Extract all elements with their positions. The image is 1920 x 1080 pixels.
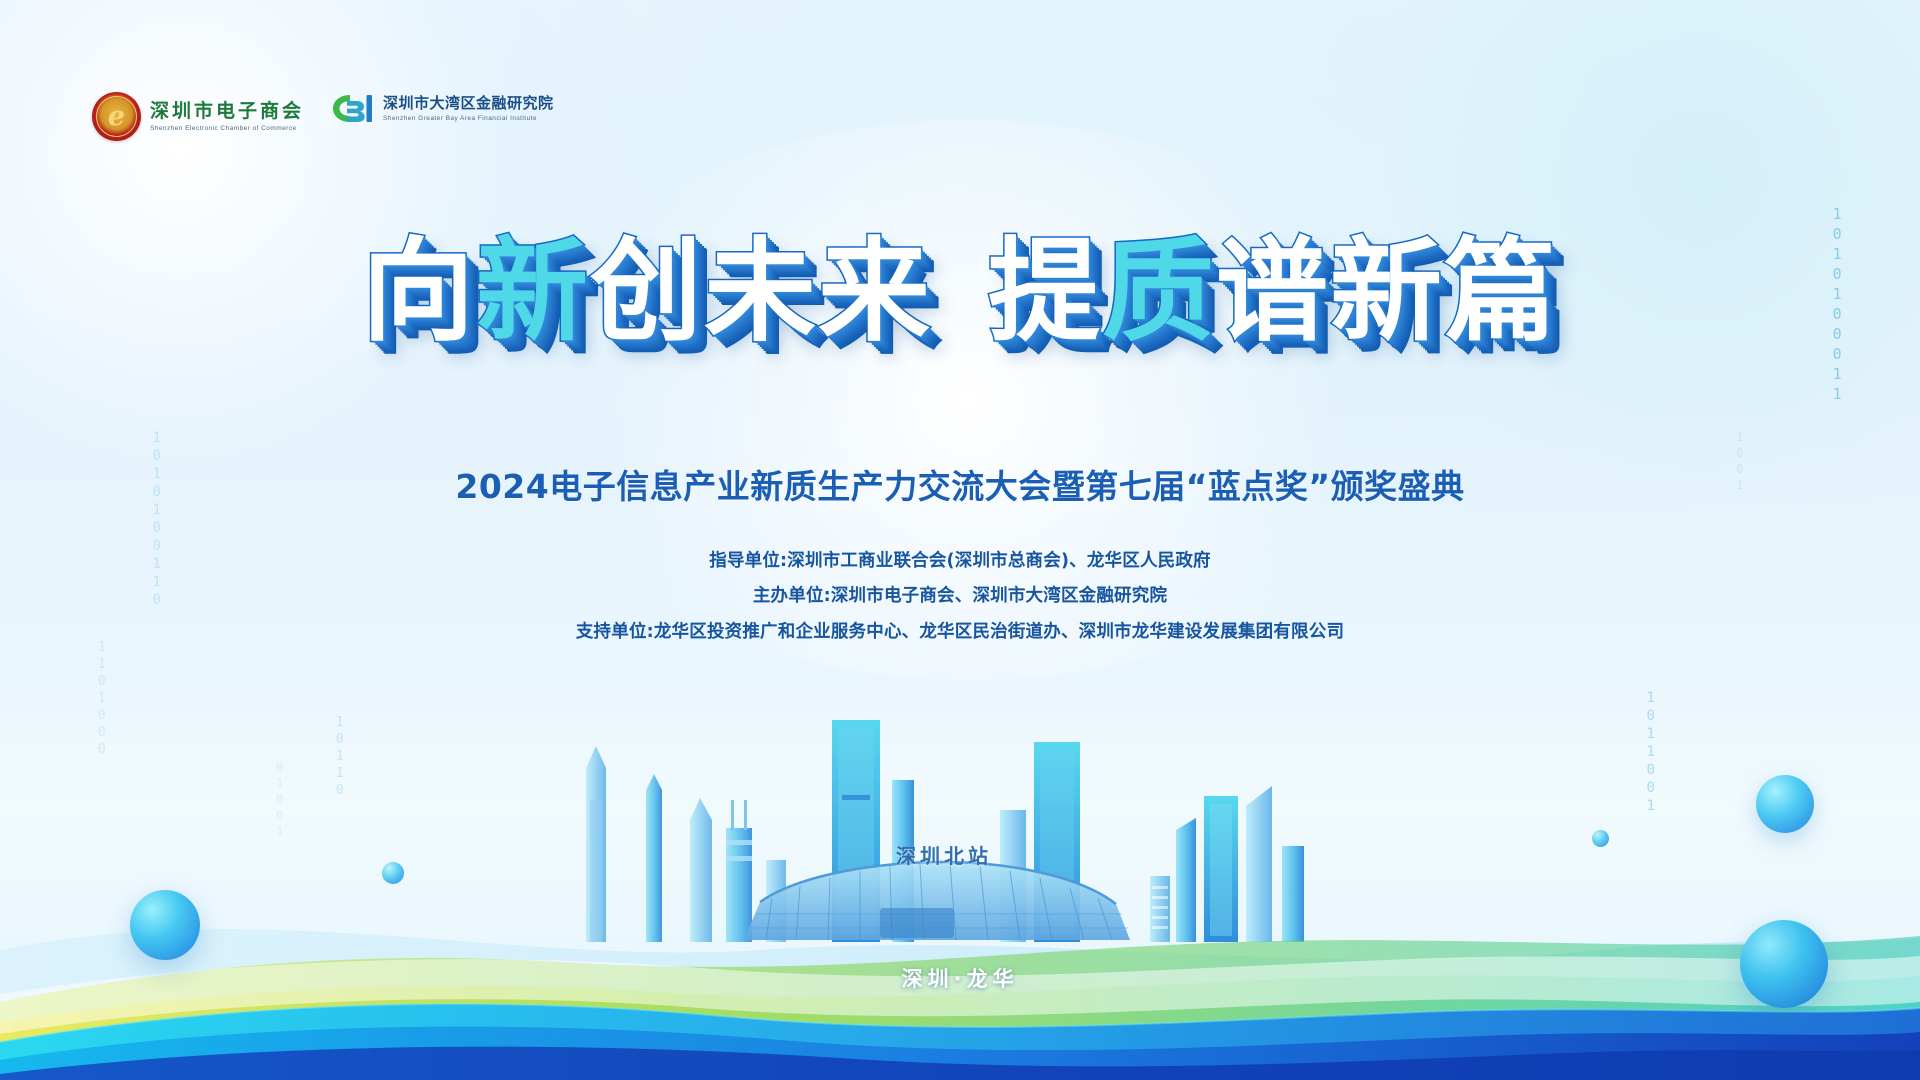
logo-bar: e 深圳市电子商会 Shenzhen Electronic Chamber of… <box>92 92 554 141</box>
headline-segment-accent-1: 新 <box>476 236 590 348</box>
seal-icon: e <box>92 92 141 141</box>
headline-segment-1: 向 <box>362 236 476 348</box>
logo-name-en: Shenzhen Electronic Chamber of Commerce <box>150 125 304 132</box>
logo-text-block: 深圳市电子商会 Shenzhen Electronic Chamber of C… <box>150 101 304 132</box>
footer-location-label: 深圳·龙华 <box>0 963 1920 993</box>
landmark-label-shenzhen-north-station: 深圳北站 <box>896 840 992 869</box>
banner-canvas: 1010100011 1011001 1010100110 1101000 10… <box>0 0 1920 1080</box>
headline-segment-4: 谱新篇 <box>1216 236 1558 348</box>
logo-shenzhen-gba-financial-institute: 深圳市大湾区金融研究院 Shenzhen Greater Bay Area Fi… <box>330 92 554 125</box>
logo-name-cn: 深圳市大湾区金融研究院 <box>383 95 554 112</box>
headline-segment-3: 提 <box>988 236 1102 348</box>
decor-sphere-large-left <box>130 890 200 960</box>
headline-segment-2: 创未来 <box>590 236 932 348</box>
decor-sphere-small-left <box>382 862 404 884</box>
page-title: 向新创未来提质谱新篇 <box>0 236 1920 348</box>
logo-name-en: Shenzhen Greater Bay Area Financial Inst… <box>383 115 554 122</box>
logo-text-block: 深圳市大湾区金融研究院 Shenzhen Greater Bay Area Fi… <box>383 95 554 121</box>
organizer-line-support: 支持单位:龙华区投资推广和企业服务中心、龙华区民治街道办、深圳市龙华建设发展集团… <box>0 615 1920 650</box>
logo-name-cn: 深圳市电子商会 <box>150 101 304 123</box>
organizer-list: 指导单位:深圳市工商业联合会(深圳市总商会)、龙华区人民政府 主办单位:深圳市电… <box>0 544 1920 650</box>
seal-letter: e <box>108 102 125 129</box>
organizer-line-host: 主办单位:深圳市电子商会、深圳市大湾区金融研究院 <box>0 579 1920 614</box>
logo-shenzhen-electronic-chamber: e 深圳市电子商会 Shenzhen Electronic Chamber of… <box>92 92 304 141</box>
decor-sphere-medium-right <box>1756 775 1814 833</box>
gbi-monogram-icon <box>330 92 374 125</box>
event-subtitle: 2024电子信息产业新质生产力交流大会暨第七届“蓝点奖”颁奖盛典 <box>0 460 1920 508</box>
headline-segment-accent-2: 质 <box>1102 236 1216 348</box>
organizer-line-guidance: 指导单位:深圳市工商业联合会(深圳市总商会)、龙华区人民政府 <box>0 544 1920 579</box>
decor-sphere-small-right <box>1592 830 1609 847</box>
